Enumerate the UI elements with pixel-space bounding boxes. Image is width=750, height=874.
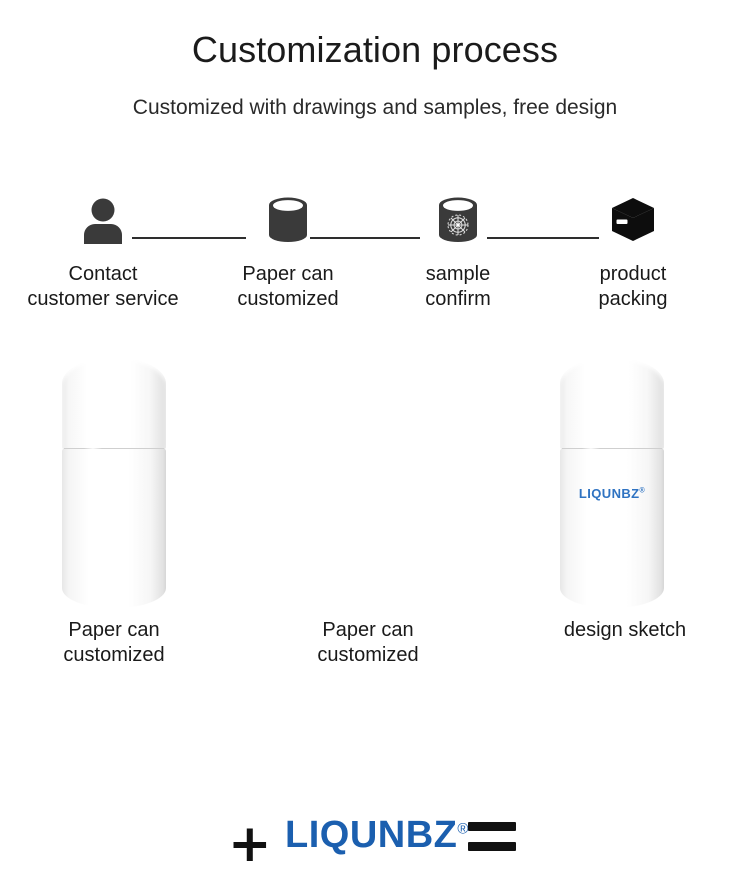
process-steps: Contact customer service Paper can custo… [0, 190, 750, 340]
process-step-label: sample confirm [373, 262, 543, 312]
process-step-sample-confirm[interactable]: sample confirm [373, 190, 543, 312]
plus-symbol: + [228, 818, 272, 870]
equals-bar [468, 842, 516, 851]
person-icon [18, 190, 188, 250]
can-printed-logo: LIQUNBZ® [560, 486, 664, 501]
can-body [62, 448, 166, 608]
process-step-label: Paper can customized [203, 262, 373, 312]
caption-left: Paper can customized [29, 618, 199, 668]
can-lid [62, 358, 166, 450]
caption-right: design sketch [540, 618, 710, 643]
page-title: Customization process [0, 0, 750, 70]
can-printed-logo-text: LIQUNBZ [579, 486, 640, 501]
patterned-can-icon [373, 190, 543, 250]
process-step-product-packing[interactable]: product packing [548, 190, 718, 312]
process-step-label: Contact customer service [18, 262, 188, 312]
equals-bar [468, 822, 516, 831]
package-box-icon [548, 190, 718, 250]
page-subtitle: Customized with drawings and samples, fr… [0, 70, 750, 119]
process-step-label: product packing [548, 262, 718, 312]
can-seam [562, 448, 662, 449]
caption-row: Paper can customized Paper can customize… [0, 618, 750, 690]
product-image-plain-can [62, 358, 166, 608]
can-body [560, 448, 664, 608]
equals-symbol [468, 822, 516, 851]
can-lid [560, 358, 664, 450]
process-step-paper-can[interactable]: Paper can customized [203, 190, 373, 312]
brand-logo-text: LIQUNBZ [285, 814, 457, 856]
composition-row: + LIQUNBZ® LIQUNBZ® [0, 348, 750, 638]
process-step-contact[interactable]: Contact customer service [18, 190, 188, 312]
header: Customization process Customized with dr… [0, 0, 750, 119]
can-seam [64, 448, 164, 449]
caption-middle: Paper can customized [283, 618, 453, 668]
paper-can-icon [203, 190, 373, 250]
product-image-branded-can: LIQUNBZ® [560, 358, 664, 608]
registered-trademark-icon: ® [640, 488, 646, 495]
brand-logo: LIQUNBZ® [285, 816, 469, 854]
